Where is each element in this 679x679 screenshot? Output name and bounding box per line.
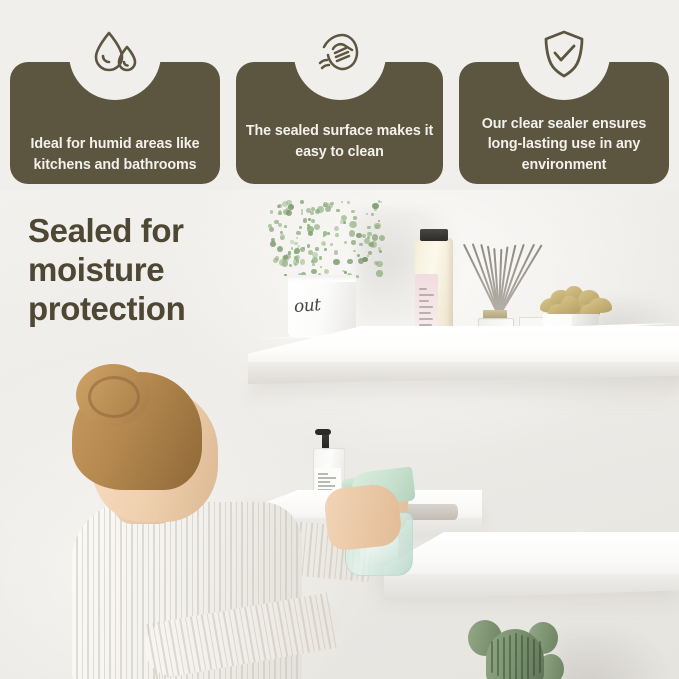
product-infographic: out — [0, 0, 679, 679]
planter-script-text: out — [293, 293, 350, 317]
child-lower-hand — [323, 482, 403, 551]
white-planter: out — [288, 275, 356, 337]
page-headline: Sealed for moisture protection — [28, 212, 263, 329]
feature-card-text: The sealed surface makes it easy to clea… — [244, 121, 435, 162]
shield-check-icon — [518, 8, 610, 100]
feature-card-text: Ideal for humid areas like kitchens and … — [18, 134, 212, 175]
feature-card-long-lasting[interactable]: Our clear sealer ensures long-lasting us… — [459, 62, 669, 184]
feature-card-humid-areas[interactable]: Ideal for humid areas like kitchens and … — [10, 62, 220, 184]
cactus-wall-shadow — [556, 630, 672, 679]
feature-card-text: Our clear sealer ensures long-lasting us… — [467, 114, 661, 175]
feature-cards-strip: Ideal for humid areas like kitchens and … — [0, 0, 679, 190]
water-droplets-icon — [69, 8, 161, 100]
hand-wiping-cloth-icon — [294, 8, 386, 100]
bottle-cap — [420, 229, 448, 241]
feature-card-easy-clean[interactable]: The sealed surface makes it easy to clea… — [236, 62, 443, 184]
greenery-foliage — [262, 194, 386, 280]
planter-rim — [288, 275, 356, 282]
child-hair-bun — [76, 364, 150, 426]
